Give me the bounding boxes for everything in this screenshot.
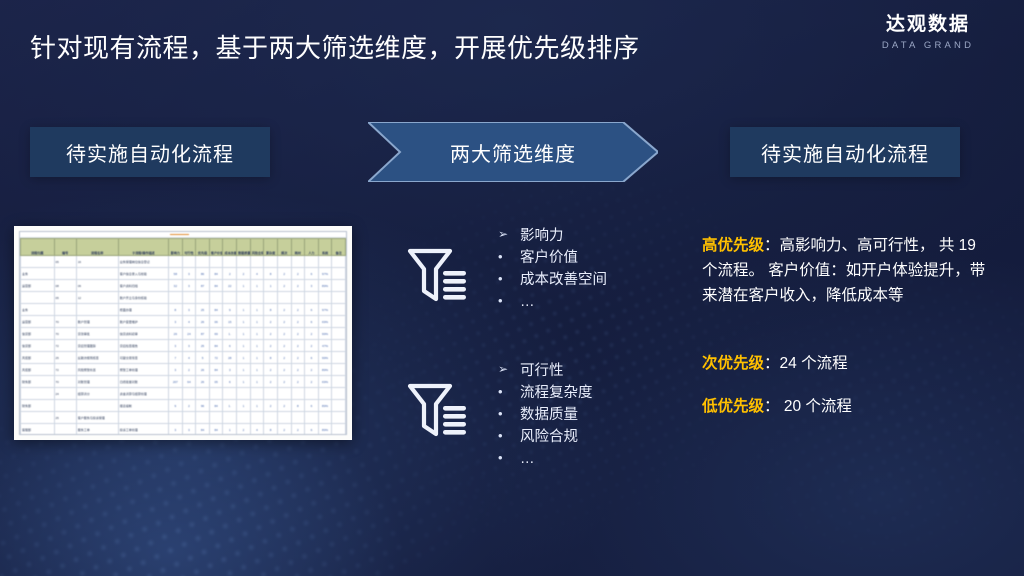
spreadsheet-cell	[305, 292, 319, 304]
spreadsheet-cell: 72	[54, 364, 76, 376]
spreadsheet-table: 流程归属编号流程名称子流程/操作描述影响力可行性优先级客户价值成本改善数据质量风…	[20, 238, 346, 435]
spreadsheet-cell: 7	[169, 352, 183, 364]
spreadsheet-cell: 72	[54, 340, 76, 352]
dot-bullet-icon: •	[498, 247, 520, 268]
spreadsheet-row: 0512账户开立与身份核验	[21, 292, 346, 304]
spreadsheet-cell: 2	[305, 340, 319, 352]
spreadsheet-cell: 1	[223, 424, 237, 436]
spreadsheet-column-header: 人力	[305, 239, 319, 256]
spreadsheet-cell	[196, 256, 210, 268]
spreadsheet-cell: 47%	[318, 340, 332, 352]
spreadsheet-cell: 26	[196, 364, 210, 376]
spreadsheet-cell: 3	[223, 364, 237, 376]
spreadsheet-cell	[223, 388, 237, 400]
spreadsheet-cell: 97%	[318, 304, 332, 316]
spreadsheet-cell: 84	[196, 424, 210, 436]
dot-bullet-icon: •	[498, 404, 520, 425]
spreadsheet-cell: 2	[277, 316, 291, 328]
page-title: 针对现有流程，基于两大筛选维度，开展优先级排序	[30, 28, 640, 65]
spreadsheet-cell	[332, 316, 346, 328]
list-item-label: 客户价值	[520, 247, 578, 269]
spreadsheet-cell	[291, 256, 305, 268]
spreadsheet-cell: 1	[264, 280, 278, 292]
spreadsheet-cell: 3	[182, 340, 196, 352]
spreadsheet-cell	[264, 412, 278, 424]
list-item: •数据质量	[498, 404, 593, 426]
spreadsheet-cell: 业务	[21, 304, 55, 316]
spreadsheet-cell: 3	[169, 364, 183, 376]
priority-low-label: 低优先级	[702, 398, 764, 415]
spreadsheet-cell: 2	[305, 364, 319, 376]
spreadsheet-cell: 2	[264, 400, 278, 412]
filter-funnel-icon	[406, 378, 472, 444]
spreadsheet-cell: 风控部	[21, 364, 55, 376]
spreadsheet-cell: 1	[237, 376, 251, 388]
spreadsheet-cell: 25	[196, 340, 210, 352]
spreadsheet-row: 运营部70账户管理账户变更维护3426061511222669%	[21, 316, 346, 328]
spreadsheet-cell: 贷款审批	[76, 328, 118, 340]
spreadsheet-column-header: 流程名称	[76, 239, 118, 256]
spreadsheet-cell: 99%	[318, 352, 332, 364]
spreadsheet-column-header: 成本改善	[223, 239, 237, 256]
spreadsheet-cell	[237, 292, 251, 304]
spreadsheet-cell	[223, 412, 237, 424]
spreadsheet-cell: 2	[291, 364, 305, 376]
spreadsheet-cell	[21, 388, 55, 400]
spreadsheet-cell	[209, 412, 223, 424]
spreadsheet-cell	[169, 292, 183, 304]
priority-high-label: 高优先级	[702, 237, 764, 254]
spreadsheet-cell: 05	[209, 376, 223, 388]
spreadsheet-column-header: 备注	[332, 239, 346, 256]
spreadsheet-cell: 2	[291, 328, 305, 340]
priority-mid-text: 次优先级：24 个流程	[702, 351, 994, 376]
spreadsheet-cell	[291, 388, 305, 400]
spreadsheet-cell: 1.	[223, 328, 237, 340]
spreadsheet-cell	[318, 388, 332, 400]
spreadsheet-cell	[182, 412, 196, 424]
spreadsheet-cell: 25	[196, 304, 210, 316]
spreadsheet-cell: 84	[209, 424, 223, 436]
spreadsheet-cell: 2	[291, 304, 305, 316]
spreadsheet-cell: 4	[182, 352, 196, 364]
list-item-label: 风险合规	[520, 426, 578, 448]
spreadsheet-cell: 24	[54, 388, 76, 400]
spreadsheet-cell: 2	[305, 328, 319, 340]
dot-bullet-icon: •	[498, 269, 520, 290]
spreadsheet-cell: 8	[264, 304, 278, 316]
spreadsheet-cell: 97%	[318, 268, 332, 280]
spreadsheet-cell: 9	[169, 400, 183, 412]
spreadsheet-cell: 2	[291, 340, 305, 352]
spreadsheet-column-header: 影响力	[169, 239, 183, 256]
spreadsheet-cell: 9	[223, 304, 237, 316]
spreadsheet-cell: 4	[250, 268, 264, 280]
spreadsheet-cell: 1	[250, 400, 264, 412]
spreadsheet-cell: 账户管理	[76, 316, 118, 328]
spreadsheet-cell: 84	[209, 364, 223, 376]
list-item: •成本改善空间	[498, 269, 607, 291]
spreadsheet-cell: 2	[291, 424, 305, 436]
spreadsheet-cell: 8	[264, 352, 278, 364]
list-item: •客户价值	[498, 247, 607, 269]
spreadsheet-cell: 对账管理	[76, 376, 118, 388]
spreadsheet-cell: 3	[169, 316, 183, 328]
spreadsheet-cell: 6	[305, 316, 319, 328]
spreadsheet-row: 业务柜面办理832584911822697%	[21, 304, 346, 316]
spreadsheet-cell: 58	[169, 268, 183, 280]
spreadsheet-cell	[169, 256, 183, 268]
spreadsheet-cell: 1	[237, 328, 251, 340]
list-item-label: …	[520, 291, 535, 313]
list-item-label: 可行性	[520, 360, 564, 382]
spreadsheet-cell: 业务受理岗位信息登记	[118, 256, 168, 268]
spreadsheet-cell: 服务工单	[76, 424, 118, 436]
spreadsheet-cell	[277, 388, 291, 400]
spreadsheet-cell: 25	[54, 352, 76, 364]
spreadsheet-cell	[332, 328, 346, 340]
process-inventory-screenshot: 流程归属编号流程名称子流程/操作描述影响力可行性优先级客户价值成本改善数据质量风…	[14, 226, 352, 440]
spreadsheet-cell: 1	[237, 304, 251, 316]
spreadsheet-cell	[332, 304, 346, 316]
spreadsheet-cell: 89%	[318, 280, 332, 292]
spreadsheet-cell	[264, 256, 278, 268]
spreadsheet-cell: 1	[237, 352, 251, 364]
spreadsheet-cell: 2	[277, 364, 291, 376]
spreadsheet-cell: 2	[291, 268, 305, 280]
spreadsheet-cell	[332, 268, 346, 280]
spreadsheet-cell: 6	[223, 376, 237, 388]
spreadsheet-cell: 运营部	[21, 316, 55, 328]
spreadsheet-cell: 客户服务与投诉受理	[76, 412, 118, 424]
spreadsheet-cell: 84	[209, 340, 223, 352]
spreadsheet-cell: 2	[264, 340, 278, 352]
spreadsheet-cell: 69%	[318, 316, 332, 328]
spreadsheet-cell: 05	[54, 292, 76, 304]
spreadsheet-cell: 账户变更维护	[118, 316, 168, 328]
spreadsheet-cell: 可疑交易筛查	[118, 352, 168, 364]
spreadsheet-cell: 24	[182, 328, 196, 340]
priority-mid-label: 次优先级	[702, 355, 764, 372]
spreadsheet-column-header: 风险合规	[250, 239, 264, 256]
spreadsheet-cell: 3	[182, 424, 196, 436]
spreadsheet-cell: 69%	[318, 376, 332, 388]
spreadsheet-cell: 2	[277, 352, 291, 364]
spreadsheet-cell	[277, 412, 291, 424]
spreadsheet-cell: 89%	[318, 400, 332, 412]
spreadsheet-cell	[264, 388, 278, 400]
spreadsheet-cell: 日终批量对账	[118, 376, 168, 388]
spreadsheet-cell: 26	[196, 376, 210, 388]
spreadsheet-cell	[250, 256, 264, 268]
list-item-label: 影响力	[520, 225, 564, 247]
spreadsheet-cell: 3	[182, 280, 196, 292]
spreadsheet-cell	[182, 388, 196, 400]
spreadsheet-cell	[118, 412, 168, 424]
spreadsheet-cell: 2	[264, 316, 278, 328]
spreadsheet-cell: 2	[182, 400, 196, 412]
spreadsheet-cell: 2	[277, 340, 291, 352]
spreadsheet-cell: 信贷部	[21, 328, 55, 340]
spreadsheet-cell: 1	[250, 376, 264, 388]
spreadsheet-cell	[305, 256, 319, 268]
priority-low-body: ： 20 个流程	[764, 398, 852, 415]
spreadsheet-cell: 2	[277, 280, 291, 292]
spreadsheet-cell	[332, 400, 346, 412]
spreadsheet-header-row: 流程归属编号流程名称子流程/操作描述影响力可行性优先级客户价值成本改善数据质量风…	[21, 239, 346, 256]
spreadsheet-cell	[250, 388, 264, 400]
spreadsheet-cell	[332, 352, 346, 364]
spreadsheet-cell: 风险预警处置	[76, 364, 118, 376]
spreadsheet-body: 0516业务受理岗位信息登记业务客户信息录入与校验583868422482269…	[21, 256, 346, 436]
list-item-label: …	[520, 448, 535, 470]
spreadsheet-cell	[332, 292, 346, 304]
spreadsheet-cell: 207	[169, 376, 183, 388]
spreadsheet-cell	[237, 412, 251, 424]
spreadsheet-cell: 84	[209, 304, 223, 316]
spreadsheet-cell	[76, 268, 118, 280]
spreadsheet-cell: 26	[196, 316, 210, 328]
spreadsheet-row: 财务部报表编制9296841.11228689%	[21, 400, 346, 412]
priority-low-text: 低优先级： 20 个流程	[702, 394, 994, 419]
spreadsheet-cell: 1	[250, 340, 264, 352]
spreadsheet-cell	[318, 292, 332, 304]
spreadsheet-cell	[169, 412, 183, 424]
spreadsheet-cell	[277, 292, 291, 304]
spreadsheet-cell	[291, 412, 305, 424]
spreadsheet-cell: 1	[237, 400, 251, 412]
spreadsheet-cell: 2	[237, 268, 251, 280]
spreadsheet-cell	[21, 292, 55, 304]
spreadsheet-cell: 72	[209, 352, 223, 364]
list-item: •…	[498, 448, 593, 470]
spreadsheet-cell: 84	[209, 400, 223, 412]
spreadsheet-cell: 贷后检查报告	[118, 340, 168, 352]
spreadsheet-cell: 财务部	[21, 400, 55, 412]
spreadsheet-cell	[332, 376, 346, 388]
spreadsheet-cell	[209, 256, 223, 268]
spreadsheet-cell: 3	[305, 280, 319, 292]
spreadsheet-cell: 财务部	[21, 376, 55, 388]
spreadsheet-cell	[318, 256, 332, 268]
spreadsheet-cell	[21, 412, 55, 424]
spreadsheet-cell: 1	[237, 364, 251, 376]
spreadsheet-column-header: 客户价值	[209, 239, 223, 256]
spreadsheet-cell	[54, 400, 76, 412]
list-item: ➢可行性	[498, 360, 593, 382]
spreadsheet-column-header: 数据质量	[237, 239, 251, 256]
arrow-bullet-icon: ➢	[498, 360, 520, 379]
spreadsheet-cell: 5	[196, 352, 210, 364]
spreadsheet-cell: 3	[182, 304, 196, 316]
spreadsheet-cell: 6	[305, 268, 319, 280]
spreadsheet-cell	[332, 412, 346, 424]
filter-funnel-icon	[406, 243, 472, 309]
spreadsheet-cell: 1	[250, 280, 264, 292]
spreadsheet-cell: 87	[196, 280, 210, 292]
spreadsheet-cell: 4	[182, 316, 196, 328]
spreadsheet-cell: 预警工单处理	[118, 364, 168, 376]
list-item-label: 流程复杂度	[520, 382, 593, 404]
spreadsheet-cell: 3	[169, 424, 183, 436]
list-item: •…	[498, 291, 607, 313]
spreadsheet-cell	[21, 256, 55, 268]
spreadsheet-cell	[250, 412, 264, 424]
spreadsheet-cell: 69	[209, 328, 223, 340]
spreadsheet-column-header: 子流程/操作描述	[118, 239, 168, 256]
spreadsheet-cell	[182, 292, 196, 304]
spreadsheet-cell: 2	[277, 304, 291, 316]
spreadsheet-cell: 3	[182, 268, 196, 280]
spreadsheet-cell: 70	[54, 328, 76, 340]
spreadsheet-cell	[332, 364, 346, 376]
list-item: •风险合规	[498, 426, 593, 448]
spreadsheet-row: 客服部服务工单投诉工单处理338484124822689%	[21, 424, 346, 436]
spreadsheet-cell: 6	[305, 352, 319, 364]
spreadsheet-cell: 2	[305, 376, 319, 388]
spreadsheet-cell: 89%	[318, 424, 332, 436]
spreadsheet-cell: 86	[196, 268, 210, 280]
spreadsheet-cell: 84	[209, 268, 223, 280]
spreadsheet-cell	[76, 400, 118, 412]
dimension-list-impact: ➢影响力•客户价值•成本改善空间•…	[498, 225, 607, 313]
priority-high-text: 高优先级：高影响力、高可行性， 共 19 个流程。 客户价值：如开户体验提升，带…	[702, 233, 994, 308]
spreadsheet-cell: 客户资料归档	[118, 280, 168, 292]
spreadsheet-cell: 8	[264, 424, 278, 436]
spreadsheet-cell: 89%	[318, 364, 332, 376]
spreadsheet-column-header: 系统	[318, 239, 332, 256]
spreadsheet-cell	[305, 388, 319, 400]
spreadsheet-viewport: 流程归属编号流程名称子流程/操作描述影响力可行性优先级客户价值成本改善数据质量风…	[19, 231, 347, 435]
spreadsheet-cell: 结算清分	[76, 388, 118, 400]
banner-center-two-dimensions: 两大筛选维度	[368, 122, 658, 182]
list-item: ➢影响力	[498, 225, 607, 247]
spreadsheet-cell: 2	[277, 268, 291, 280]
spreadsheet-cell: 资金清算与结算处理	[118, 388, 168, 400]
spreadsheet-cell	[223, 256, 237, 268]
spreadsheet-cell	[223, 292, 237, 304]
spreadsheet-cell: 运营部	[21, 280, 55, 292]
spreadsheet-cell: 2	[291, 280, 305, 292]
spreadsheet-row: 业务客户信息录入与校验5838684224822697%	[21, 268, 346, 280]
spreadsheet-cell: 16	[76, 256, 118, 268]
spreadsheet-cell: 12	[76, 292, 118, 304]
dimension-list-feasibility: ➢可行性•流程复杂度•数据质量•风险合规•…	[498, 360, 593, 470]
spreadsheet-row: 信贷部70贷款审批信贷资料初审262487691.11222299%	[21, 328, 346, 340]
dot-bullet-icon: •	[498, 291, 520, 312]
spreadsheet-cell: 投诉工单处理	[118, 424, 168, 436]
spreadsheet-cell: 贷后管理跟踪	[76, 340, 118, 352]
spreadsheet-row: 25客户服务与投诉受理	[21, 412, 346, 424]
spreadsheet-cell: 70	[54, 376, 76, 388]
spreadsheet-column-header: 优先级	[196, 239, 210, 256]
list-item-label: 数据质量	[520, 404, 578, 426]
list-item: •流程复杂度	[498, 382, 593, 404]
spreadsheet-cell: 84	[209, 280, 223, 292]
logo-english-text: DATA GRAND	[858, 40, 998, 51]
spreadsheet-cell	[264, 292, 278, 304]
spreadsheet-cell: 4	[250, 424, 264, 436]
spreadsheet-cell: 8	[264, 268, 278, 280]
spreadsheet-cell: 2	[223, 268, 237, 280]
spreadsheet-row: 24结算清分资金清算与结算处理	[21, 388, 346, 400]
spreadsheet-cell: 99%	[318, 328, 332, 340]
spreadsheet-cell: 1	[250, 364, 264, 376]
spreadsheet-cell: 反欺诈规则核查	[76, 352, 118, 364]
spreadsheet-cell: 2	[291, 352, 305, 364]
spreadsheet-cell	[332, 256, 346, 268]
spreadsheet-cell: 账户开立与身份核验	[118, 292, 168, 304]
spreadsheet-cell: 1	[250, 304, 264, 316]
spreadsheet-cell: 2	[277, 424, 291, 436]
spreadsheet-cell	[169, 388, 183, 400]
spreadsheet-cell: 1	[250, 316, 264, 328]
spreadsheet-cell: 2	[277, 328, 291, 340]
logo-chinese-text: 达观数据	[858, 14, 998, 36]
spreadsheet-cell: 2	[291, 316, 305, 328]
spreadsheet-cell	[237, 256, 251, 268]
spreadsheet-column-header: 复杂度	[264, 239, 278, 256]
spreadsheet-cell: 3	[169, 340, 183, 352]
spreadsheet-cell	[209, 292, 223, 304]
spreadsheet-cell: 6	[305, 424, 319, 436]
spreadsheet-cell	[291, 292, 305, 304]
spreadsheet-cell	[54, 424, 76, 436]
dot-bullet-icon: •	[498, 426, 520, 447]
spreadsheet-cell: 2	[264, 364, 278, 376]
spreadsheet-cell	[332, 280, 346, 292]
spreadsheet-column-header: 流程归属	[21, 239, 55, 256]
spreadsheet-row: 风控部72风险预警处置预警工单处理322684311222289%	[21, 364, 346, 376]
spreadsheet-cell	[250, 292, 264, 304]
list-item-label: 成本改善空间	[520, 269, 607, 291]
spreadsheet-cell: 2	[237, 424, 251, 436]
spreadsheet-cell: 64	[182, 376, 196, 388]
spreadsheet-cell: 1	[237, 316, 251, 328]
spreadsheet-cell: 客服部	[21, 424, 55, 436]
banner-right-process-inventory: 待实施自动化流程	[730, 127, 960, 177]
spreadsheet-row: 财务部70对账管理日终批量对账207642605611222269%	[21, 376, 346, 388]
spreadsheet-cell: 8	[291, 400, 305, 412]
spreadsheet-cell: 28	[223, 352, 237, 364]
spreadsheet-cell: 05	[54, 256, 76, 268]
spreadsheet-cell: 2	[291, 376, 305, 388]
spreadsheet-cell: 70	[54, 316, 76, 328]
spreadsheet-cell: 信贷部	[21, 340, 55, 352]
arrow-bullet-icon: ➢	[498, 225, 520, 244]
spreadsheet-cell: 08	[54, 280, 76, 292]
spreadsheet-cell: 06	[76, 280, 118, 292]
spreadsheet-cell	[196, 412, 210, 424]
spreadsheet-cell: 1	[237, 280, 251, 292]
spreadsheet-cell: 25	[54, 412, 76, 424]
spreadsheet-cell: 风控部	[21, 352, 55, 364]
spreadsheet-cell: 1	[237, 340, 251, 352]
spreadsheet-cell	[196, 388, 210, 400]
spreadsheet-cell	[237, 388, 251, 400]
slide-canvas: 针对现有流程，基于两大筛选维度，开展优先级排序 达观数据 DATA GRAND …	[0, 0, 1024, 576]
spreadsheet-cell: 2	[264, 328, 278, 340]
spreadsheet-row: 运营部0806客户资料归档32387842211122389%	[21, 280, 346, 292]
dot-bullet-icon: •	[498, 382, 520, 403]
spreadsheet-cell: 22	[223, 280, 237, 292]
spreadsheet-cell: 1	[250, 328, 264, 340]
spreadsheet-row: 信贷部72贷后管理跟踪贷后检查报告332584611222247%	[21, 340, 346, 352]
spreadsheet-column-header: 频次	[277, 239, 291, 256]
spreadsheet-cell	[332, 424, 346, 436]
spreadsheet-cell: 业务	[21, 268, 55, 280]
dot-bullet-icon: •	[498, 448, 520, 469]
